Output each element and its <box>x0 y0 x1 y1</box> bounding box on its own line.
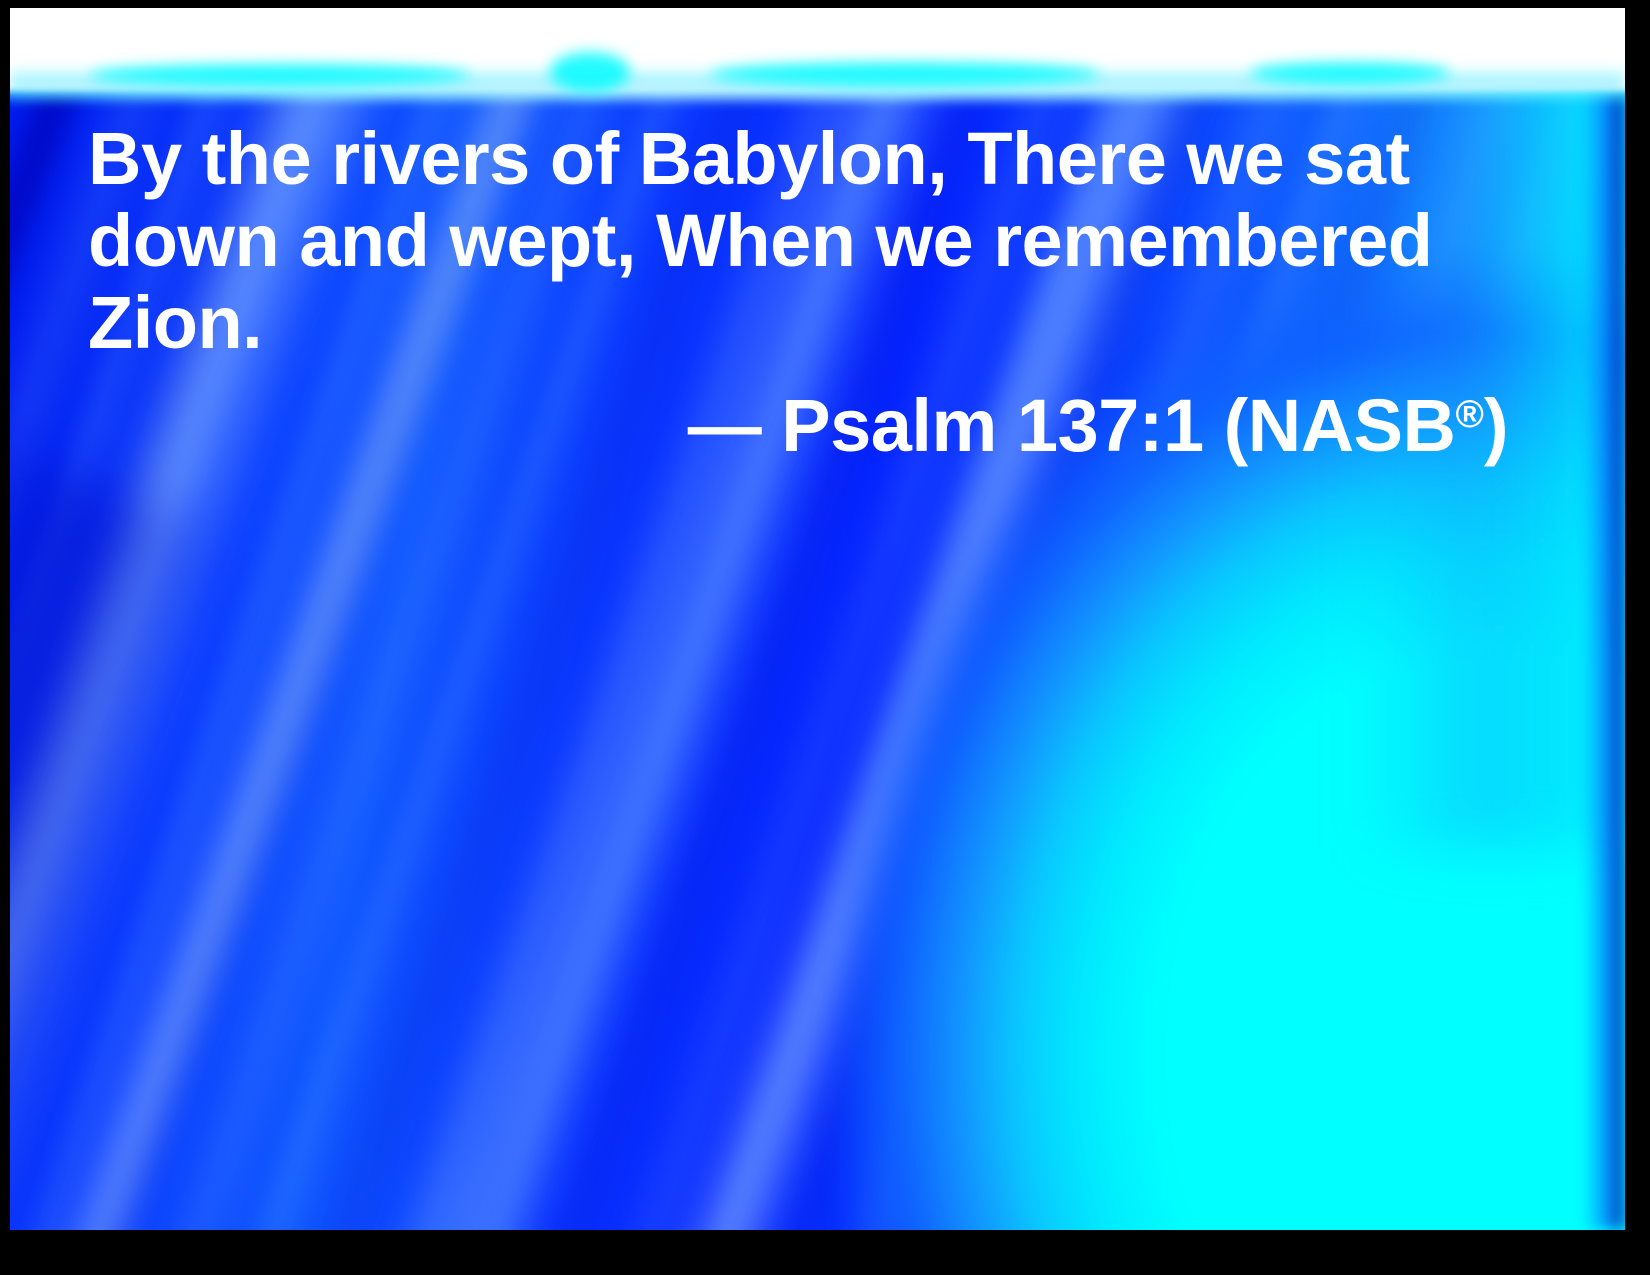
text-layer: By the rivers of Babylon, There we sat d… <box>10 8 1625 1230</box>
registered-trademark-icon: ® <box>1455 393 1483 436</box>
slide-artwork-panel: By the rivers of Babylon, There we sat d… <box>10 8 1625 1230</box>
verse-text: By the rivers of Babylon, There we sat d… <box>88 118 1508 364</box>
verse-attribution: — Psalm 137:1 (NASB®) <box>88 374 1508 467</box>
scripture-slide: By the rivers of Babylon, There we sat d… <box>0 0 1650 1275</box>
attribution-close-paren: ) <box>1484 384 1508 467</box>
attribution-dash: — <box>688 384 782 467</box>
attribution-reference: Psalm 137:1 (NASB <box>781 384 1455 467</box>
